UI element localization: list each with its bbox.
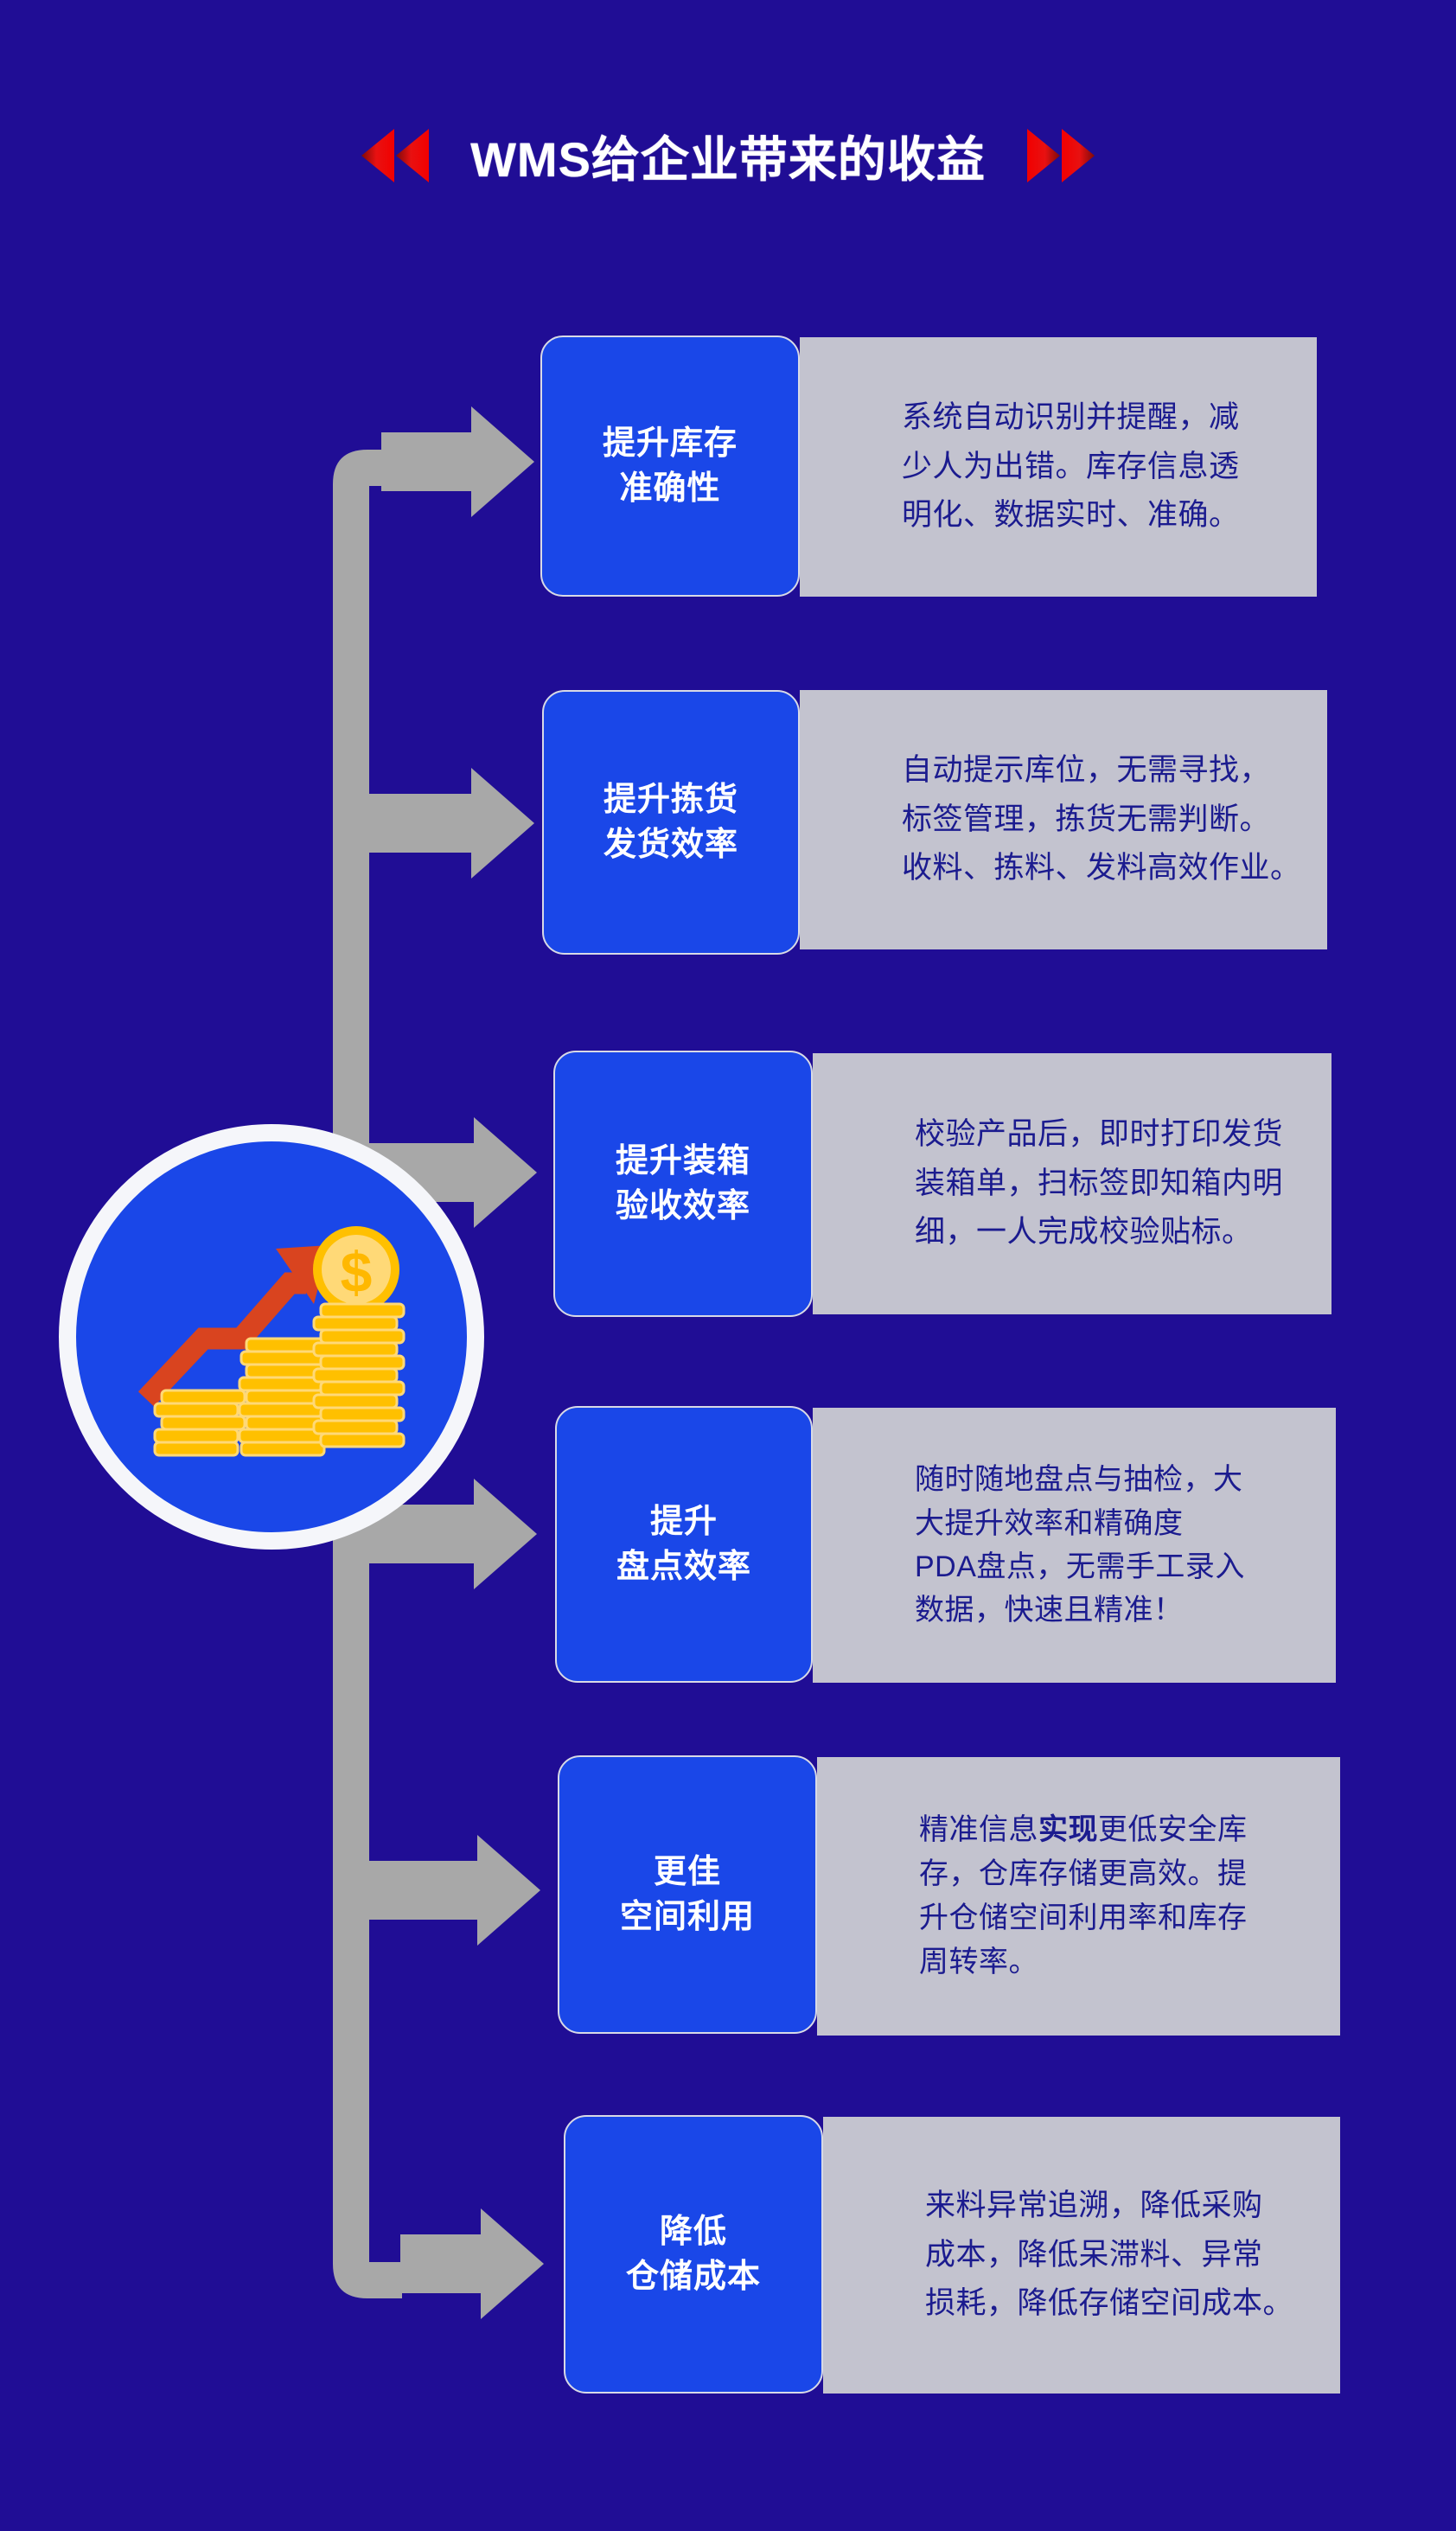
benefit-description-4: 随时随地盘点与抽检，大 大提升效率和精确度 PDA盘点，无需手工录入 数据，快速…	[813, 1458, 1264, 1632]
coin-stack-small	[155, 1390, 245, 1455]
rewind-double-triangle-icon	[361, 129, 429, 182]
benefit-card-6[interactable]: 降低 仓储成本	[564, 2115, 823, 2394]
benefit-description-6: 来料异常追溯，降低采购 成本，降低呆滞料、异常 损耗，降低存储空间成本。	[823, 2182, 1312, 2329]
benefit-label-5: 更佳 空间利用	[620, 1850, 755, 1940]
benefit-label-3: 提升装箱 验收效率	[616, 1139, 750, 1230]
benefit-card-3[interactable]: 提升装箱 验收效率	[553, 1051, 813, 1317]
benefit-card-2[interactable]: 提升拣货 发货效率	[542, 690, 800, 955]
desc5-bold: 实现	[1038, 1813, 1098, 1846]
benefit-description-3: 校验产品后，即时打印发货 装箱单，扫标签即知箱内明 细，一人完成校验贴标。	[813, 1110, 1302, 1257]
benefit-card-4[interactable]: 提升 盘点效率	[555, 1406, 813, 1683]
coins-chart-graphic: $	[129, 1207, 414, 1467]
page-title: WMS给企业带来的收益	[470, 121, 986, 191]
benefit-description-panel-5: 精准信息实现更低安全库 存，仓库存储更高效。提 升仓储空间利用率和库存 周转率。	[817, 1757, 1340, 2036]
benefit-description-5: 精准信息实现更低安全库 存，仓库存储更高效。提 升仓储空间利用率和库存 周转率。	[817, 1808, 1267, 1985]
infographic-poster: WMS给企业带来的收益	[0, 0, 1456, 2531]
fast-forward-double-triangle-icon	[1027, 129, 1095, 182]
benefit-label-1: 提升库存 准确性	[603, 421, 738, 512]
benefit-card-5[interactable]: 更佳 空间利用	[558, 1755, 817, 2034]
svg-text:$: $	[341, 1240, 373, 1304]
benefit-description-panel-4: 随时随地盘点与抽检，大 大提升效率和精确度 PDA盘点，无需手工录入 数据，快速…	[813, 1408, 1336, 1683]
desc5-pre: 精准信息	[919, 1813, 1038, 1846]
benefit-description-panel-6: 来料异常追溯，降低采购 成本，降低呆滞料、异常 损耗，降低存储空间成本。	[823, 2117, 1340, 2394]
benefit-label-6: 降低 仓储成本	[626, 2209, 761, 2300]
benefit-label-4: 提升 盘点效率	[616, 1499, 751, 1590]
benefit-card-1[interactable]: 提升库存 准确性	[540, 336, 800, 597]
benefit-description-panel-2: 自动提示库位，无需寻找， 标签管理，拣货无需判断。 收料、拣料、发料高效作业。	[800, 690, 1327, 949]
benefit-label-2: 提升拣货 发货效率	[603, 777, 738, 868]
growth-coins-icon: $	[59, 1124, 484, 1550]
benefit-description-2: 自动提示库位，无需寻找， 标签管理，拣货无需判断。 收料、拣料、发料高效作业。	[800, 746, 1320, 893]
coin-stack-large	[314, 1304, 404, 1447]
dollar-coin-icon: $	[313, 1226, 399, 1313]
poster-header: WMS给企业带来的收益	[0, 104, 1456, 208]
benefit-description-panel-3: 校验产品后，即时打印发货 装箱单，扫标签即知箱内明 细，一人完成校验贴标。	[813, 1053, 1331, 1314]
benefit-description-1: 系统自动识别并提醒，减 少人为出错。库存信息透 明化、数据实时、准确。	[800, 393, 1259, 540]
benefit-description-panel-1: 系统自动识别并提醒，减 少人为出错。库存信息透 明化、数据实时、准确。	[800, 337, 1317, 597]
